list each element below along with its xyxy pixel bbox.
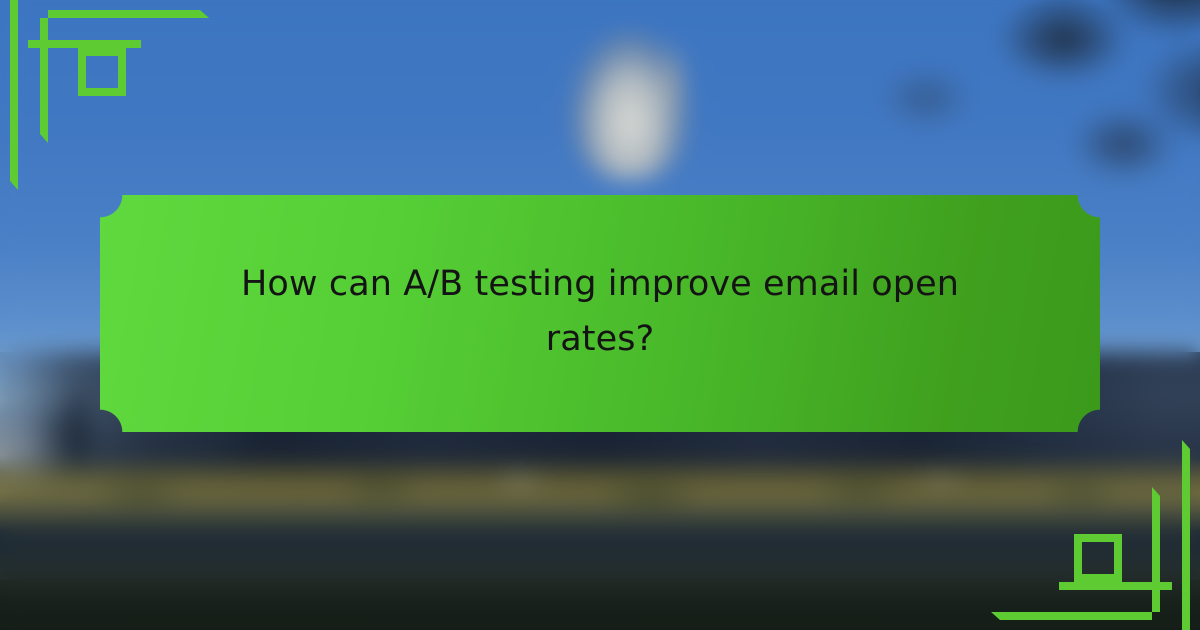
capitol-spire [660, 38, 686, 128]
social-card-canvas: How can A/B testing improve email open r… [0, 0, 1200, 630]
shoreline-foliage [0, 452, 1200, 532]
banner-title: How can A/B testing improve email open r… [230, 257, 970, 370]
water-foreground [0, 580, 1200, 630]
headline-banner: How can A/B testing improve email open r… [100, 195, 1100, 432]
